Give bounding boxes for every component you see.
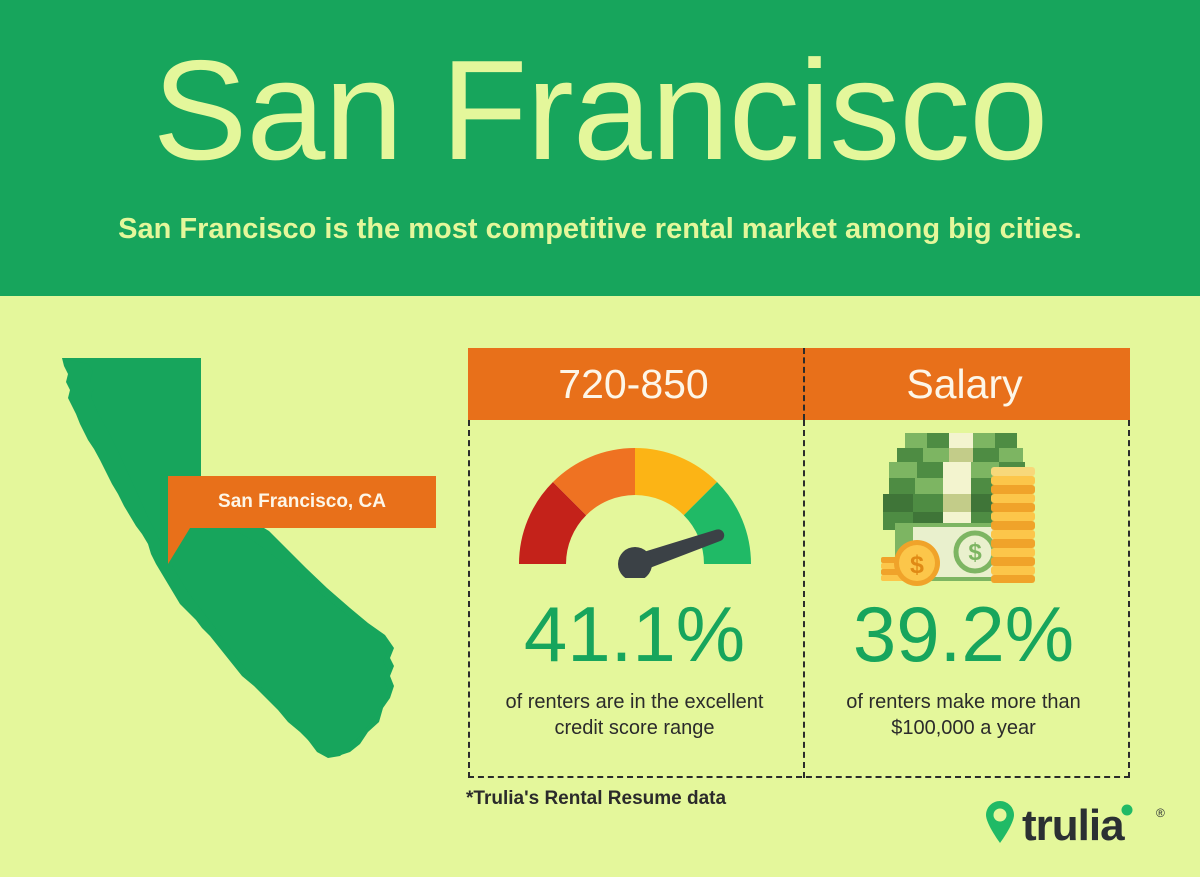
source-footnote: *Trulia's Rental Resume data xyxy=(466,788,726,810)
map-callout-san-francisco[interactable]: San Francisco, CA xyxy=(168,476,436,528)
stat-value-credit-score: 41.1% xyxy=(524,593,745,675)
credit-score-gauge-icon xyxy=(505,438,765,578)
stat-value-salary: 39.2% xyxy=(853,593,1074,675)
column-header-credit-score: 720-850 xyxy=(468,348,799,420)
stat-caption-salary: of renters make more than $100,000 a yea… xyxy=(819,689,1109,741)
stat-column-salary: $ xyxy=(799,420,1128,776)
california-shape-icon xyxy=(38,336,438,796)
money-stack-icon: $ xyxy=(869,423,1059,593)
header-banner: San Francisco San Francisco is the most … xyxy=(0,0,1200,296)
money-slot: $ xyxy=(799,420,1128,595)
page-title: San Francisco xyxy=(0,36,1200,186)
california-map: San Francisco, CA xyxy=(38,336,438,796)
map-pin-icon xyxy=(986,801,1014,843)
header-divider xyxy=(803,348,805,420)
body-divider xyxy=(803,420,805,778)
svg-text:$: $ xyxy=(910,551,924,579)
gauge-slot xyxy=(470,420,799,595)
page-subtitle: San Francisco is the most competitive re… xyxy=(0,209,1200,249)
map-callout-label: San Francisco, CA xyxy=(218,491,386,513)
stat-caption-credit-score: of renters are in the excellent credit s… xyxy=(490,689,780,741)
svg-text:$: $ xyxy=(968,539,982,566)
stats-panel: 720-850 Salary xyxy=(468,348,1130,778)
svg-text:®: ® xyxy=(1156,806,1165,820)
trulia-logo-svg: trulia ® xyxy=(984,799,1174,851)
callout-tail xyxy=(168,528,190,564)
column-header-salary: Salary xyxy=(799,348,1130,420)
stats-panel-body: 41.1% of renters are in the excellent cr… xyxy=(468,420,1130,778)
trulia-logo[interactable]: trulia ® xyxy=(984,799,1174,851)
svg-text:trulia: trulia xyxy=(1022,801,1125,850)
stats-panel-header: 720-850 Salary xyxy=(468,348,1130,420)
stat-column-credit-score: 41.1% of renters are in the excellent cr… xyxy=(470,420,799,776)
